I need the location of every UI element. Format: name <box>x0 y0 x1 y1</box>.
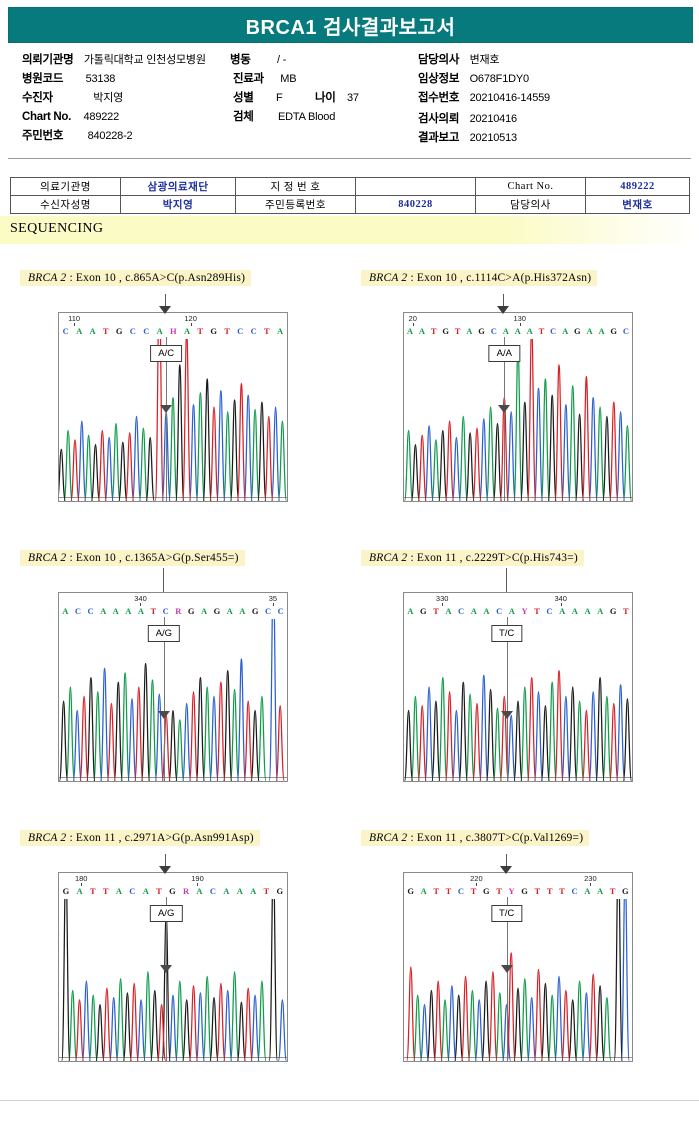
base-letter: C <box>143 326 149 336</box>
panel-caption-6: BRCA 2 : Exon 11 , c.3807T>C(p.Val1269=) <box>361 830 589 846</box>
base-sequence: GATTACATGRACAAATG <box>59 885 287 897</box>
base-ambiguous: R <box>183 886 189 896</box>
position-tick: 330 <box>436 594 449 603</box>
base-letter: T <box>496 886 502 896</box>
base-letter: G <box>252 606 259 616</box>
base-letter: G <box>210 326 217 336</box>
sequencing-section-label: SEQUENCING <box>10 221 103 237</box>
field-doctor: 담당의사 변재호 <box>418 50 499 68</box>
field-hospital-code-label: 병원코드 <box>22 73 63 85</box>
base-letter: C <box>163 606 169 616</box>
field-specimen-value: EDTA Blood <box>278 111 335 123</box>
field-chart-no-label: Chart No. <box>22 111 71 123</box>
base-letter: G <box>483 886 490 896</box>
position-ruler: 110120 <box>59 313 287 325</box>
base-letter: A <box>466 326 472 336</box>
base-letter: C <box>265 606 271 616</box>
base-letter: C <box>278 606 284 616</box>
position-tick: 20 <box>409 314 417 323</box>
field-doctor-label: 담당의사 <box>418 54 459 66</box>
base-letter: G <box>521 886 528 896</box>
genotype-callout-6: T/C <box>491 905 522 922</box>
variant-pointer-arrow-5 <box>159 866 171 874</box>
variant-inner-arrow-3 <box>158 711 170 719</box>
chromatogram-trace-3: 34035ACCAAAATCRGAGAAGCCA/G <box>58 592 288 782</box>
cell-designation-label: 지 정 번 호 <box>236 178 356 196</box>
panel-caption-5: BRCA 2 : Exon 11 , c.2971A>G(p.Asn991Asp… <box>20 830 260 846</box>
base-ambiguous: Y <box>521 606 527 616</box>
trace-curves <box>404 619 632 781</box>
position-tick: 220 <box>470 874 483 883</box>
base-letter: A <box>223 886 229 896</box>
base-letter: C <box>129 886 135 896</box>
field-patient-name-value: 박지영 <box>93 92 123 104</box>
position-tick: 180 <box>75 874 88 883</box>
base-letter: A <box>239 606 245 616</box>
position-ruler: 330340 <box>404 593 632 605</box>
base-letter: C <box>210 886 216 896</box>
report-title-bar: BRCA1 검사결과보고서 <box>8 7 693 43</box>
base-letter: T <box>431 326 437 336</box>
base-letter: T <box>264 886 270 896</box>
chromatogram-trace-2: 20130AATGTAGCAAATCAGAAGCA/A <box>403 312 633 502</box>
field-sex-label: 성별 <box>233 92 254 104</box>
field-department: 진료과 MB <box>233 69 296 87</box>
cell-recipient-label: 수신자성명 <box>11 196 121 214</box>
sequencing-section-banner: SEQUENCING <box>0 216 699 244</box>
base-letter: G <box>610 606 617 616</box>
base-sequence: AGTACAACAYTCAAAAGT <box>404 605 632 617</box>
base-letter: A <box>559 606 565 616</box>
trace-curves <box>59 619 287 781</box>
position-tick: 120 <box>184 314 197 323</box>
base-letter: T <box>156 886 162 896</box>
base-letter: A <box>100 606 106 616</box>
chromatogram-trace-6: 220230GATTCTGTYGTTTCAATGT/C <box>403 872 633 1062</box>
base-letter: A <box>407 606 413 616</box>
patient-header: 의뢰기관명 가톨릭대학교 인천성모병원 병원코드 53138 수진자 박지영 C… <box>0 46 699 154</box>
base-letter: A <box>503 326 509 336</box>
variant-pointer-stem-3 <box>163 568 164 592</box>
base-letter: A <box>586 326 592 336</box>
base-letter: A <box>227 606 233 616</box>
base-letter: A <box>157 326 163 336</box>
field-age-value: 37 <box>347 92 359 104</box>
variant-description: : Exon 10 , c.1114C>A(p.His372Asn) <box>407 272 591 284</box>
base-letter: A <box>201 606 207 616</box>
base-letter: T <box>610 886 616 896</box>
variant-inner-arrow-2 <box>498 405 510 413</box>
chromatogram-panels: BRCA 2 : Exon 10 , c.865A>C(p.Asn289His)… <box>0 268 699 1108</box>
base-letter: G <box>407 886 414 896</box>
base-letter: A <box>77 886 83 896</box>
variant-pointer-arrow-6 <box>500 866 512 874</box>
gene-name: BRCA 2 <box>369 272 407 284</box>
base-letter: A <box>584 606 590 616</box>
base-sequence: ACCAAAATCRGAGAAGCC <box>59 605 287 617</box>
panel-caption-1: BRCA 2 : Exon 10 , c.865A>C(p.Asn289His) <box>20 270 251 286</box>
position-ruler: 220230 <box>404 873 632 885</box>
base-letter: C <box>546 606 552 616</box>
field-ward-value: / - <box>277 54 286 66</box>
base-letter: G <box>622 886 629 896</box>
table-row: 수신자성명 박지영 주민등록번호 840228 담당의사 변재호 <box>11 196 690 214</box>
base-sequence: CAATGCCAHATGTCCTA <box>59 325 287 337</box>
base-letter: A <box>113 606 119 616</box>
base-sequence: AATGTAGCAAATCAGAAGC <box>404 325 632 337</box>
field-report-date-label: 결과보고 <box>418 132 459 144</box>
variant-inner-arrow-4 <box>501 711 513 719</box>
field-accession-no-value: 20210416-14559 <box>470 92 550 104</box>
base-letter: T <box>471 886 477 896</box>
cell-doctor-label: 담당의사 <box>476 196 586 214</box>
base-letter: A <box>483 606 489 616</box>
cell-chartno-value: 489222 <box>586 178 690 196</box>
variant-pointer-arrow-2 <box>497 306 509 314</box>
base-letter: C <box>87 606 93 616</box>
gene-name: BRCA 2 <box>369 832 407 844</box>
base-ambiguous: Y <box>509 886 515 896</box>
field-specimen-label: 검체 <box>233 111 254 123</box>
base-letter: A <box>89 326 95 336</box>
panel-caption-3: BRCA 2 : Exon 10 , c.1365A>G(p.Ser455=) <box>20 550 245 566</box>
variant-inner-arrow-6 <box>501 965 513 973</box>
info-table-body: 의료기관명 삼광의료재단 지 정 번 호 Chart No. 489222 수신… <box>11 178 690 214</box>
cell-doctor-value: 변재호 <box>586 196 690 214</box>
base-letter: G <box>276 886 283 896</box>
base-letter: T <box>103 886 109 896</box>
base-letter: T <box>534 606 540 616</box>
genotype-callout-1: A/C <box>150 345 182 362</box>
base-letter: A <box>138 606 144 616</box>
base-letter: G <box>574 326 581 336</box>
base-letter: T <box>151 606 157 616</box>
field-order-date: 검사의뢰 20210416 <box>418 109 517 127</box>
info-table: 의료기관명 삼광의료재단 지 정 번 호 Chart No. 489222 수신… <box>10 177 690 214</box>
panel-caption-2: BRCA 2 : Exon 10 , c.1114C>A(p.His372Asn… <box>361 270 597 286</box>
table-row: 의료기관명 삼광의료재단 지 정 번 호 Chart No. 489222 <box>11 178 690 196</box>
base-letter: G <box>63 886 70 896</box>
field-ssn: 주민번호 840228-2 <box>22 126 132 144</box>
base-letter: T <box>623 606 629 616</box>
position-tick: 110 <box>68 314 80 323</box>
gene-name: BRCA 2 <box>28 832 66 844</box>
field-ward: 병동 / - <box>230 50 286 68</box>
gene-name: BRCA 2 <box>28 552 66 564</box>
chromatogram-trace-1: 110120CAATGCCAHATGTCCTAA/C <box>58 312 288 502</box>
base-letter: C <box>496 606 502 616</box>
cell-institution-label: 의료기관명 <box>11 178 121 196</box>
trace-baseline <box>59 777 287 778</box>
base-sequence: GATTCTGTYGTTTCAATG <box>404 885 632 897</box>
base-ambiguous: H <box>170 326 177 336</box>
position-tick: 340 <box>554 594 567 603</box>
position-ruler: 34035 <box>59 593 287 605</box>
trace-curves <box>59 339 287 501</box>
chromatogram-trace-5: 180190GATTACATGRACAAATGA/G <box>58 872 288 1062</box>
field-accession-no-label: 접수번호 <box>418 92 459 104</box>
variant-description: : Exon 10 , c.865A>C(p.Asn289His) <box>66 272 245 284</box>
trace-baseline <box>404 497 632 498</box>
field-hospital-code-value: 53138 <box>86 73 116 85</box>
field-sex: 성별 F 나이 37 <box>233 88 359 106</box>
panel-row: BRCA 2 : Exon 10 , c.865A>C(p.Asn289His)… <box>0 268 699 548</box>
panel-caption-4: BRCA 2 : Exon 11 , c.2229T>C(p.His743=) <box>361 550 584 566</box>
base-letter: A <box>572 606 578 616</box>
field-report-date-value: 20210513 <box>470 132 517 144</box>
base-letter: C <box>130 326 136 336</box>
trace-curves <box>404 899 632 1061</box>
genotype-callout-2: A/A <box>489 345 520 362</box>
field-chart-no: Chart No. 489222 <box>22 107 119 125</box>
base-letter: A <box>125 606 131 616</box>
gene-name: BRCA 2 <box>28 272 66 284</box>
field-order-date-label: 검사의뢰 <box>418 113 459 125</box>
field-age-label: 나이 <box>315 92 336 104</box>
field-institution-label: 의뢰기관명 <box>22 54 73 66</box>
field-doctor-value: 변재호 <box>470 54 500 66</box>
base-letter: A <box>184 326 190 336</box>
cell-institution-value: 삼광의료재단 <box>121 178 236 196</box>
base-letter: C <box>63 326 69 336</box>
position-tick: 190 <box>191 874 204 883</box>
base-letter: C <box>237 326 243 336</box>
cell-ssn-value: 840228 <box>356 196 476 214</box>
base-letter: T <box>535 886 541 896</box>
base-letter: G <box>478 326 485 336</box>
base-letter: C <box>458 606 464 616</box>
base-letter: A <box>407 326 413 336</box>
field-hospital-code: 병원코드 53138 <box>22 69 115 87</box>
base-letter: A <box>515 326 521 336</box>
base-ambiguous: R <box>175 606 181 616</box>
report-page: BRCA1 검사결과보고서 의뢰기관명 가톨릭대학교 인천성모병원 병원코드 5… <box>0 0 699 1123</box>
variant-pointer-arrow-1 <box>159 306 171 314</box>
chromatogram-trace-4: 330340AGTACAACAYTCAAAAGTT/C <box>403 592 633 782</box>
base-letter: A <box>597 606 603 616</box>
base-letter: A <box>196 886 202 896</box>
field-report-date: 결과보고 20210513 <box>418 128 517 146</box>
base-letter: A <box>76 326 82 336</box>
footer-divider <box>0 1100 699 1101</box>
base-letter: T <box>446 886 452 896</box>
base-letter: G <box>420 606 427 616</box>
field-institution-value: 가톨릭대학교 인천성모병원 <box>84 54 206 66</box>
base-letter: A <box>509 606 515 616</box>
field-sex-value: F <box>276 92 283 104</box>
base-letter: A <box>250 886 256 896</box>
position-tick: 230 <box>584 874 597 883</box>
base-letter: G <box>188 606 195 616</box>
base-letter: C <box>458 886 464 896</box>
panel-row: BRCA 2 : Exon 11 , c.2971A>G(p.Asn991Asp… <box>0 828 699 1108</box>
trace-curves <box>404 339 632 501</box>
field-patient-name: 수진자 박지영 <box>22 88 123 106</box>
field-ssn-value: 840228-2 <box>88 130 133 142</box>
base-letter: T <box>433 886 439 896</box>
base-letter: A <box>597 886 603 896</box>
base-letter: C <box>75 606 81 616</box>
panel-row: BRCA 2 : Exon 10 , c.1365A>G(p.Ser455=)3… <box>0 548 699 828</box>
trace-baseline <box>404 777 632 778</box>
base-letter: A <box>116 886 122 896</box>
position-tick: 340 <box>134 594 147 603</box>
base-letter: A <box>471 606 477 616</box>
trace-curves <box>59 899 287 1061</box>
field-clinical-info: 임상정보 O678F1DY0 <box>418 69 529 87</box>
genotype-callout-5: A/G <box>150 905 182 922</box>
field-ssn-label: 주민번호 <box>22 130 63 142</box>
cell-chartno-label: Chart No. <box>476 178 586 196</box>
field-department-label: 진료과 <box>233 73 264 85</box>
base-letter: T <box>433 606 439 616</box>
base-letter: C <box>623 326 629 336</box>
variant-inner-arrow-5 <box>160 965 172 973</box>
base-letter: A <box>527 326 533 336</box>
base-letter: A <box>421 886 427 896</box>
cell-ssn-label: 주민등록번호 <box>236 196 356 214</box>
field-specimen: 검체 EDTA Blood <box>233 107 335 125</box>
field-order-date-value: 20210416 <box>470 113 517 125</box>
base-letter: T <box>455 326 461 336</box>
cell-designation-value <box>356 178 476 196</box>
page-title: BRCA1 검사결과보고서 <box>246 11 456 40</box>
field-accession-no: 접수번호 20210416-14559 <box>418 88 550 106</box>
base-letter: T <box>559 886 565 896</box>
position-tick: 35 <box>269 594 277 603</box>
base-letter: C <box>571 886 577 896</box>
base-letter: G <box>442 326 449 336</box>
variant-description: : Exon 10 , c.1365A>G(p.Ser455=) <box>66 552 238 564</box>
base-letter: A <box>562 326 568 336</box>
base-letter: A <box>584 886 590 896</box>
base-letter: C <box>491 326 497 336</box>
base-letter: A <box>419 326 425 336</box>
base-letter: A <box>277 326 283 336</box>
position-ruler: 180190 <box>59 873 287 885</box>
base-letter: T <box>264 326 270 336</box>
base-letter: G <box>169 886 176 896</box>
base-letter: A <box>598 326 604 336</box>
genotype-callout-4: T/C <box>491 625 522 642</box>
field-clinical-info-label: 임상정보 <box>418 73 459 85</box>
base-letter: A <box>445 606 451 616</box>
genotype-callout-3: A/G <box>148 625 180 642</box>
variant-description: : Exon 11 , c.2229T>C(p.His743=) <box>407 552 578 564</box>
base-letter: T <box>90 886 96 896</box>
field-clinical-info-value: O678F1DY0 <box>470 73 529 85</box>
base-letter: G <box>214 606 221 616</box>
base-letter: C <box>550 326 556 336</box>
base-letter: G <box>610 326 617 336</box>
trace-baseline <box>59 497 287 498</box>
variant-inner-arrow-1 <box>160 405 172 413</box>
field-chart-no-value: 489222 <box>84 111 120 123</box>
field-institution: 의뢰기관명 가톨릭대학교 인천성모병원 <box>22 50 206 68</box>
base-letter: T <box>197 326 203 336</box>
base-letter: A <box>143 886 149 896</box>
base-letter: T <box>103 326 109 336</box>
base-letter: A <box>237 886 243 896</box>
position-ruler: 20130 <box>404 313 632 325</box>
base-letter: C <box>251 326 257 336</box>
base-letter: T <box>539 326 545 336</box>
base-letter: T <box>224 326 230 336</box>
base-letter: T <box>547 886 553 896</box>
trace-baseline <box>404 1057 632 1058</box>
gene-name: BRCA 2 <box>369 552 407 564</box>
field-patient-name-label: 수진자 <box>22 92 53 104</box>
cell-recipient-value: 박지영 <box>121 196 236 214</box>
field-ward-label: 병동 <box>230 54 251 66</box>
base-letter: G <box>116 326 123 336</box>
variant-description: : Exon 11 , c.2971A>G(p.Asn991Asp) <box>66 832 253 844</box>
field-department-value: MB <box>280 73 296 85</box>
variant-pointer-stem-4 <box>506 568 507 592</box>
trace-baseline <box>59 1057 287 1058</box>
variant-description: : Exon 11 , c.3807T>C(p.Val1269=) <box>407 832 583 844</box>
position-tick: 130 <box>513 314 526 323</box>
base-letter: A <box>62 606 68 616</box>
header-divider <box>8 158 691 159</box>
